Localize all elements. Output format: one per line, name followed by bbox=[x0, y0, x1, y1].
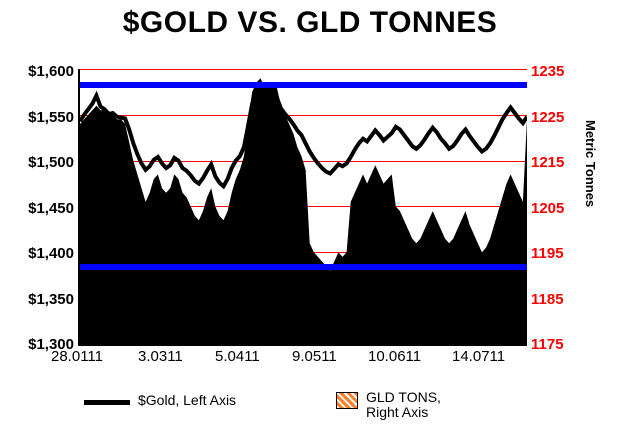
left-axis-tick-1400: $1,400 bbox=[2, 245, 74, 262]
x-axis-tick-3: 5.0411 bbox=[215, 348, 260, 365]
right-axis-title: Metric Tonnes bbox=[578, 120, 598, 207]
legend-label-gld-line1: GLD TONS, bbox=[366, 390, 441, 405]
legend-label-gold: $Gold, Left Axis bbox=[138, 393, 236, 408]
right-axis-tick-1235: 1235 bbox=[531, 63, 581, 80]
left-axis-tick-1550: $1,550 bbox=[2, 109, 74, 126]
legend: $Gold, Left Axis GLD TONS, Right Axis bbox=[78, 390, 525, 430]
line-swatch-icon bbox=[84, 400, 130, 405]
left-axis-tick-1450: $1,450 bbox=[2, 200, 74, 217]
legend-item-gold: $Gold, Left Axis bbox=[84, 393, 236, 408]
left-axis-tick-1600: $1,600 bbox=[2, 63, 74, 80]
reference-line-lower bbox=[80, 264, 527, 270]
right-axis-tick-1215: 1215 bbox=[531, 154, 581, 171]
legend-item-gld: GLD TONS, Right Axis bbox=[336, 390, 441, 421]
right-axis-tick-1195: 1195 bbox=[531, 245, 581, 262]
plot-inner bbox=[80, 69, 527, 344]
left-axis-tick-1350: $1,350 bbox=[2, 291, 74, 308]
right-axis-tick-1175: 1175 bbox=[531, 336, 581, 353]
plot-area bbox=[78, 69, 527, 346]
page-title: $GOLD VS. GLD TONNES bbox=[0, 6, 620, 40]
hatched-box-swatch-icon bbox=[336, 392, 358, 409]
x-axis-tick-6: 14.0711 bbox=[452, 348, 505, 365]
right-axis-tick-1225: 1225 bbox=[531, 109, 581, 126]
gld-tonnes-area bbox=[80, 78, 527, 344]
legend-label-gld-line2: Right Axis bbox=[366, 405, 441, 420]
legend-label-gld: GLD TONS, Right Axis bbox=[366, 390, 441, 421]
x-axis-tick-1: 28.0111 bbox=[51, 348, 103, 365]
x-axis-tick-5: 10.0611 bbox=[368, 348, 421, 365]
x-axis-tick-4: 9.0511 bbox=[292, 348, 337, 365]
x-axis-tick-2: 3.0311 bbox=[138, 348, 183, 365]
chart-container: $GOLD VS. GLD TONNES Metric Tonnes $1,30… bbox=[0, 0, 620, 434]
reference-line-upper bbox=[80, 82, 527, 88]
series-plot bbox=[80, 69, 527, 344]
right-axis-tick-1185: 1185 bbox=[531, 291, 581, 308]
left-axis-tick-1500: $1,500 bbox=[2, 154, 74, 171]
right-axis-tick-1205: 1205 bbox=[531, 200, 581, 217]
